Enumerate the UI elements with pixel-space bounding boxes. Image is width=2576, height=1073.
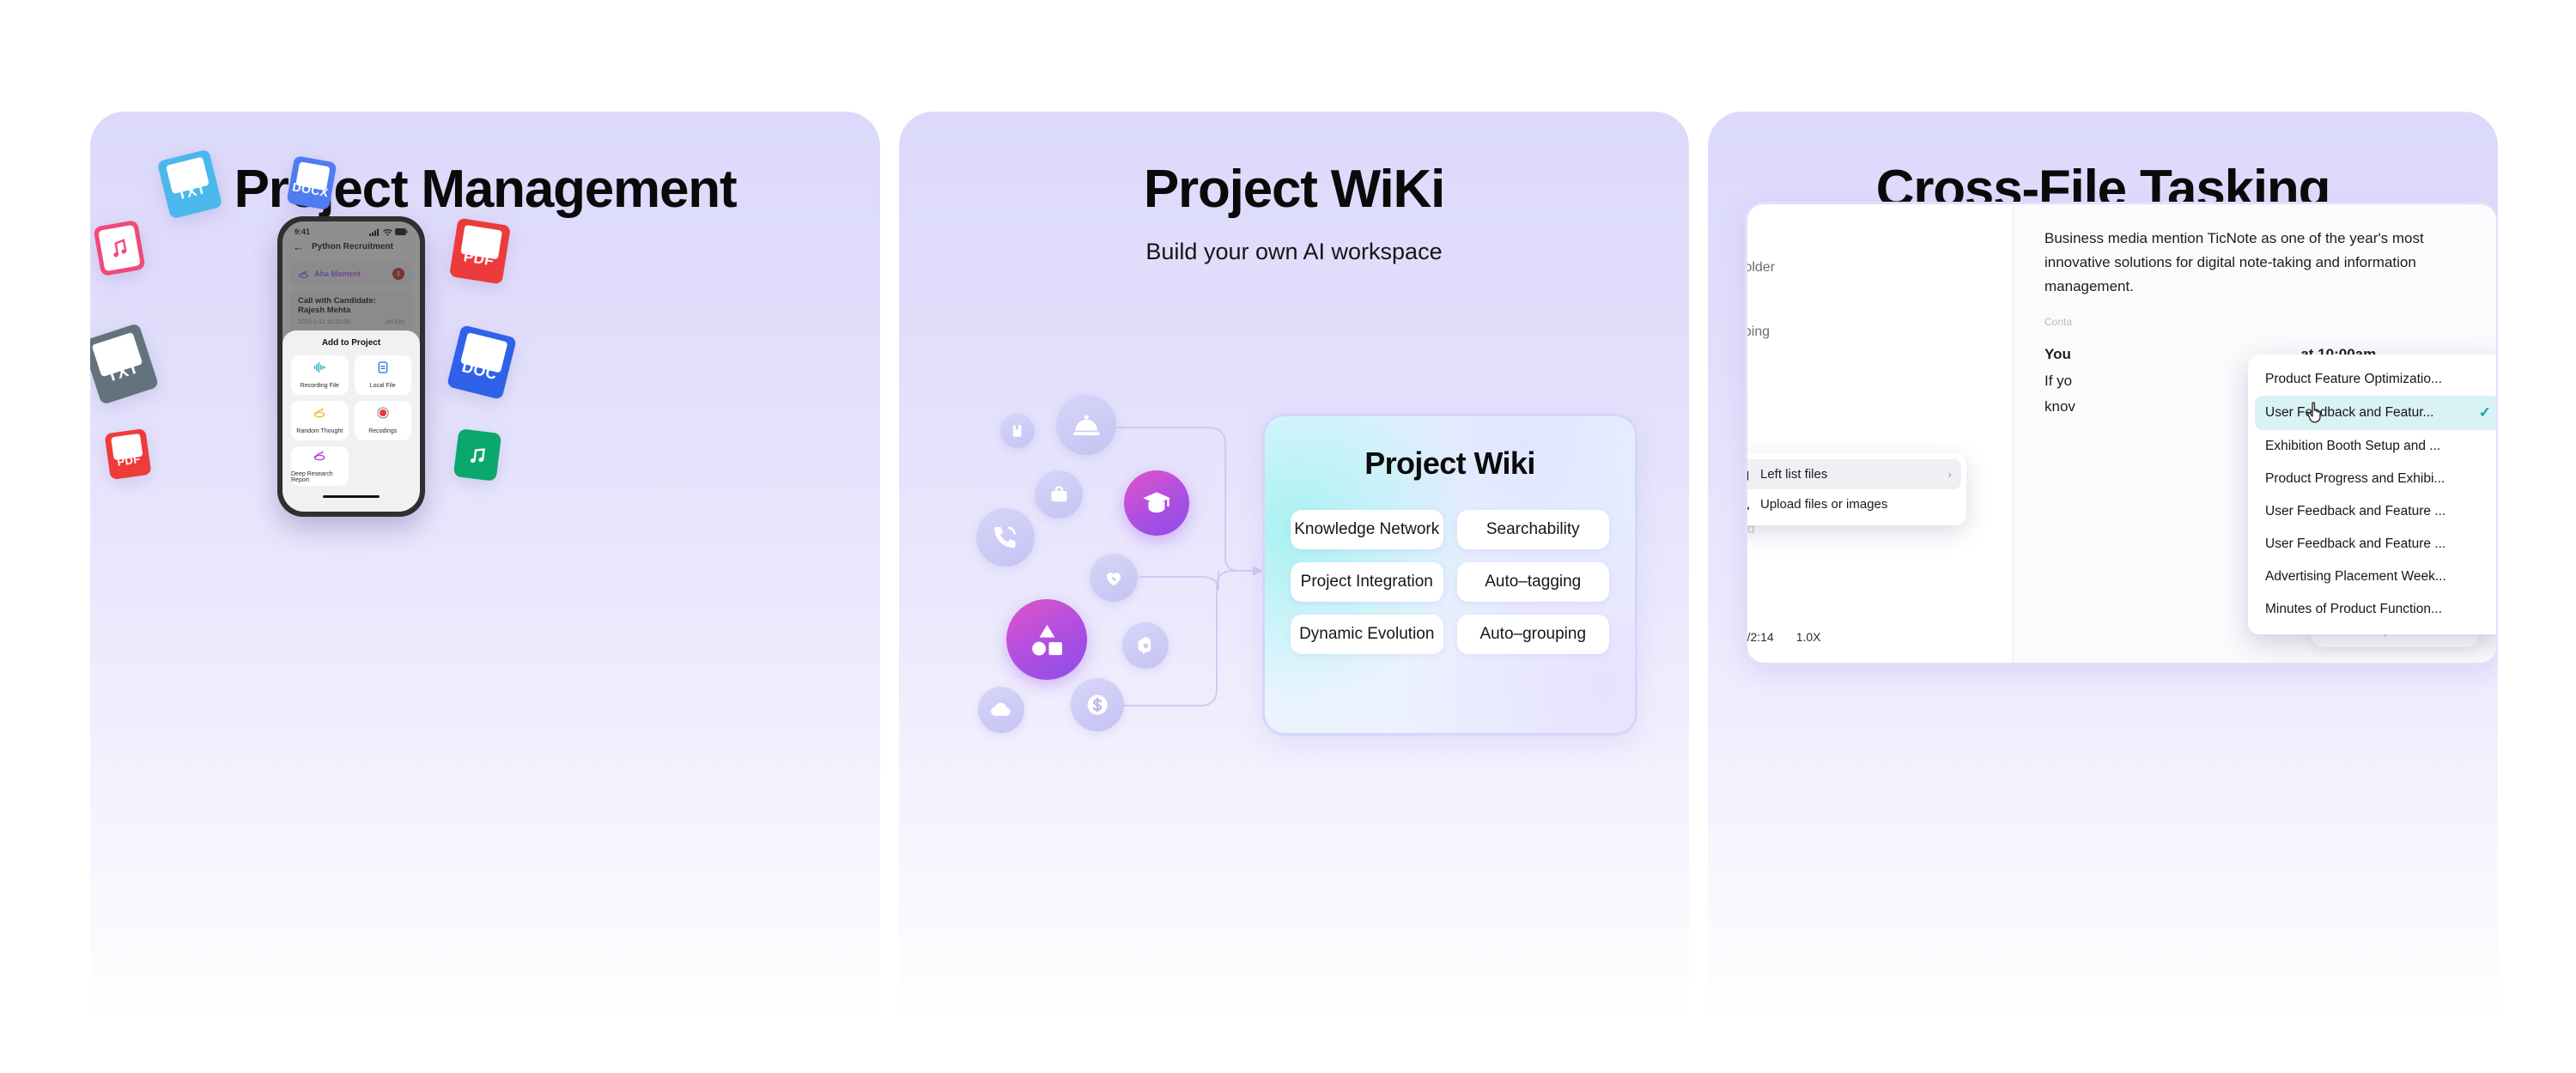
phone-mockup: 9:41 (277, 216, 425, 517)
file-icon (1745, 467, 1751, 482)
sheet-option-random-thought[interactable]: Random Thought (291, 401, 349, 440)
sheet-options-grid: Recording FileLocal FileRandom ThoughtRe… (291, 355, 411, 486)
book-icon (1000, 414, 1035, 448)
wiki-bubble-cloud (978, 687, 1024, 733)
graduation-cap-icon (1124, 470, 1189, 536)
dropdown-option-label: Minutes of Product Function... (2265, 602, 2442, 617)
audio-player-controls: 00/2:14 1.0X (1745, 630, 1821, 644)
dropdown-option[interactable]: Exhibition Booth Setup and ... (2255, 430, 2498, 463)
wiki-bubble-brain-idea (1122, 622, 1169, 669)
chevron-right-icon: › (1948, 468, 1952, 481)
player-rate[interactable]: 1.0X (1796, 630, 1821, 644)
answer-line-3-prefix: knov (2044, 398, 2075, 415)
phone-call-icon (976, 508, 1035, 567)
panel-title: Project WiKi (899, 159, 1689, 220)
file-icon-pdf: PDF (449, 218, 511, 285)
shapes-icon (1006, 599, 1087, 680)
dropdown-option-label: User Feedback and Featur... (2265, 405, 2433, 421)
upload-icon (1745, 497, 1751, 512)
sheet-option-label: Recodings (368, 428, 397, 434)
dropdown-option[interactable]: User Feedback and Featur...✓ (2255, 396, 2498, 430)
sheet-option-label: Deep Research Report (291, 471, 349, 483)
sheet-option-label: Random Thought (296, 428, 343, 434)
document-icon (376, 361, 390, 379)
waveform-icon (313, 361, 326, 379)
wiki-bubble-graduation-cap (1124, 470, 1189, 536)
wiki-chip-auto-tagging[interactable]: Auto–tagging (1457, 562, 1610, 602)
wiki-chip-knowledge-network[interactable]: Knowledge Network (1291, 510, 1443, 549)
panel-project-wiki: Project WiKi Build your own AI workspace… (899, 112, 1689, 1021)
dropdown-option[interactable]: Minutes of Product Function... (2255, 593, 2498, 626)
file-context-menu: Left list files›Upload files or images (1745, 453, 1966, 525)
panel-project-management: Project Management TXTDOCXPDFTXTDOCPDF 9… (90, 112, 880, 1021)
sheet-option-label: Local File (370, 383, 396, 389)
phone-screen: 9:41 (283, 221, 420, 512)
wiki-bubble-money (1071, 678, 1124, 731)
music-note-icon (465, 442, 489, 469)
menu-item-label: Upload files or images (1760, 497, 1887, 512)
check-icon: ✓ (2479, 404, 2491, 421)
slide-canvas: Project Management TXTDOCXPDFTXTDOCPDF 9… (0, 0, 2576, 1073)
sheet-option-recording-file[interactable]: Recording File (291, 355, 349, 395)
dropdown-option[interactable]: Product Progress and Exhibi... (2255, 463, 2498, 495)
record-dot-icon (376, 406, 390, 424)
bell-service-icon (1056, 395, 1116, 455)
dropdown-option-label: User Feedback and Feature ... (2265, 504, 2445, 519)
sheet-option-local-file[interactable]: Local File (355, 355, 412, 395)
sidebar-label-grouping: ouping (1745, 324, 1770, 340)
dropdown-option[interactable]: User Feedback and Feature ... (2255, 495, 2498, 528)
wiki-bubble-book (1000, 414, 1035, 448)
answer-line-2-prefix: If yo (2044, 373, 2072, 389)
sparkle-hat-icon (313, 406, 326, 424)
sheet-title: Add to Project (291, 338, 411, 348)
sheet-option-deep-research-report[interactable]: Deep Research Report (291, 446, 349, 486)
wiki-bubble-shapes (1006, 599, 1087, 680)
menu-item-label: Left list files (1760, 467, 1827, 482)
briefcase-icon (1035, 470, 1083, 518)
wiki-chip-project-integration[interactable]: Project Integration (1291, 562, 1443, 602)
context-note: Conta (2044, 316, 2470, 328)
answer-line-1-prefix: You (2044, 346, 2071, 362)
sidebar-label-folder: folder (1745, 260, 1775, 276)
add-to-project-sheet: Add to Project Recording FileLocal FileR… (283, 330, 420, 512)
left-sidebar: folder ouping eed 00/2:14 1.0X Left list… (1747, 204, 2014, 663)
home-indicator (323, 495, 380, 499)
dropdown-option-label: Product Feature Optimizatio... (2265, 372, 2442, 387)
wiki-chip-dynamic-evolution[interactable]: Dynamic Evolution (1291, 615, 1443, 654)
wiki-bubble-handshake (1090, 554, 1138, 602)
file-selector-dropdown: Product Feature Optimizatio...User Feedb… (2248, 355, 2498, 634)
project-wiki-card: Project Wiki Knowledge NetworkSearchabil… (1262, 414, 1637, 736)
file-icon-docx: DOCX (287, 155, 337, 210)
wiki-bubble-briefcase (1035, 470, 1083, 518)
conversation-pane: Business media mention TicNote as one of… (2014, 204, 2496, 663)
brain-idea-icon (1122, 622, 1169, 669)
file-icon-txt: TXT (90, 323, 159, 405)
wiki-card-title: Project Wiki (1291, 446, 1609, 482)
cursor-pointer-icon (2306, 400, 2328, 426)
wiki-diagram: Project Wiki Knowledge NetworkSearchabil… (899, 395, 1689, 755)
dropdown-option-label: Exhibition Booth Setup and ... (2265, 439, 2440, 454)
money-icon (1071, 678, 1124, 731)
sheet-option-recodings[interactable]: Recodings (355, 401, 412, 440)
wiki-feature-chips: Knowledge NetworkSearchabilityProject In… (1291, 510, 1609, 654)
wiki-chip-auto-grouping[interactable]: Auto–grouping (1457, 615, 1610, 654)
player-time: 00/2:14 (1745, 630, 1774, 644)
file-icon-pdf: PDF (104, 428, 151, 480)
panel-cross-file-tasking: Cross-File Tasking Ask questions across … (1708, 112, 2498, 1021)
menu-item-left-list-files[interactable]: Left list files› (1745, 459, 1961, 489)
panel-subtitle: Build your own AI workspace (899, 239, 1689, 265)
dropdown-option-label: Advertising Placement Week... (2265, 569, 2446, 585)
menu-item-upload-files-or-images[interactable]: Upload files or images (1745, 489, 1961, 519)
music-note-icon (106, 234, 133, 263)
sheet-option-label: Recording File (301, 383, 339, 389)
file-icon-doc: DOC (447, 324, 517, 400)
dropdown-option-label: Product Progress and Exhibi... (2265, 471, 2445, 487)
sparkle-hat-icon (313, 449, 326, 467)
dropdown-option[interactable]: User Feedback and Feature ... (2255, 528, 2498, 561)
wiki-bubble-phone-call (976, 508, 1035, 567)
dropdown-option[interactable]: Advertising Placement Week... (2255, 561, 2498, 593)
handshake-icon (1090, 554, 1138, 602)
dropdown-option[interactable]: Product Feature Optimizatio... (2255, 363, 2498, 396)
file-icon-music (453, 428, 501, 482)
file-icon-music (93, 220, 145, 276)
wiki-bubble-bell-service (1056, 395, 1116, 455)
dropdown-option-label: User Feedback and Feature ... (2265, 536, 2445, 552)
wiki-chip-searchability[interactable]: Searchability (1457, 510, 1610, 549)
app-window: folder ouping eed 00/2:14 1.0X Left list… (1745, 202, 2498, 665)
assistant-message: Business media mention TicNote as one of… (2044, 227, 2470, 299)
cloud-icon (978, 687, 1024, 733)
